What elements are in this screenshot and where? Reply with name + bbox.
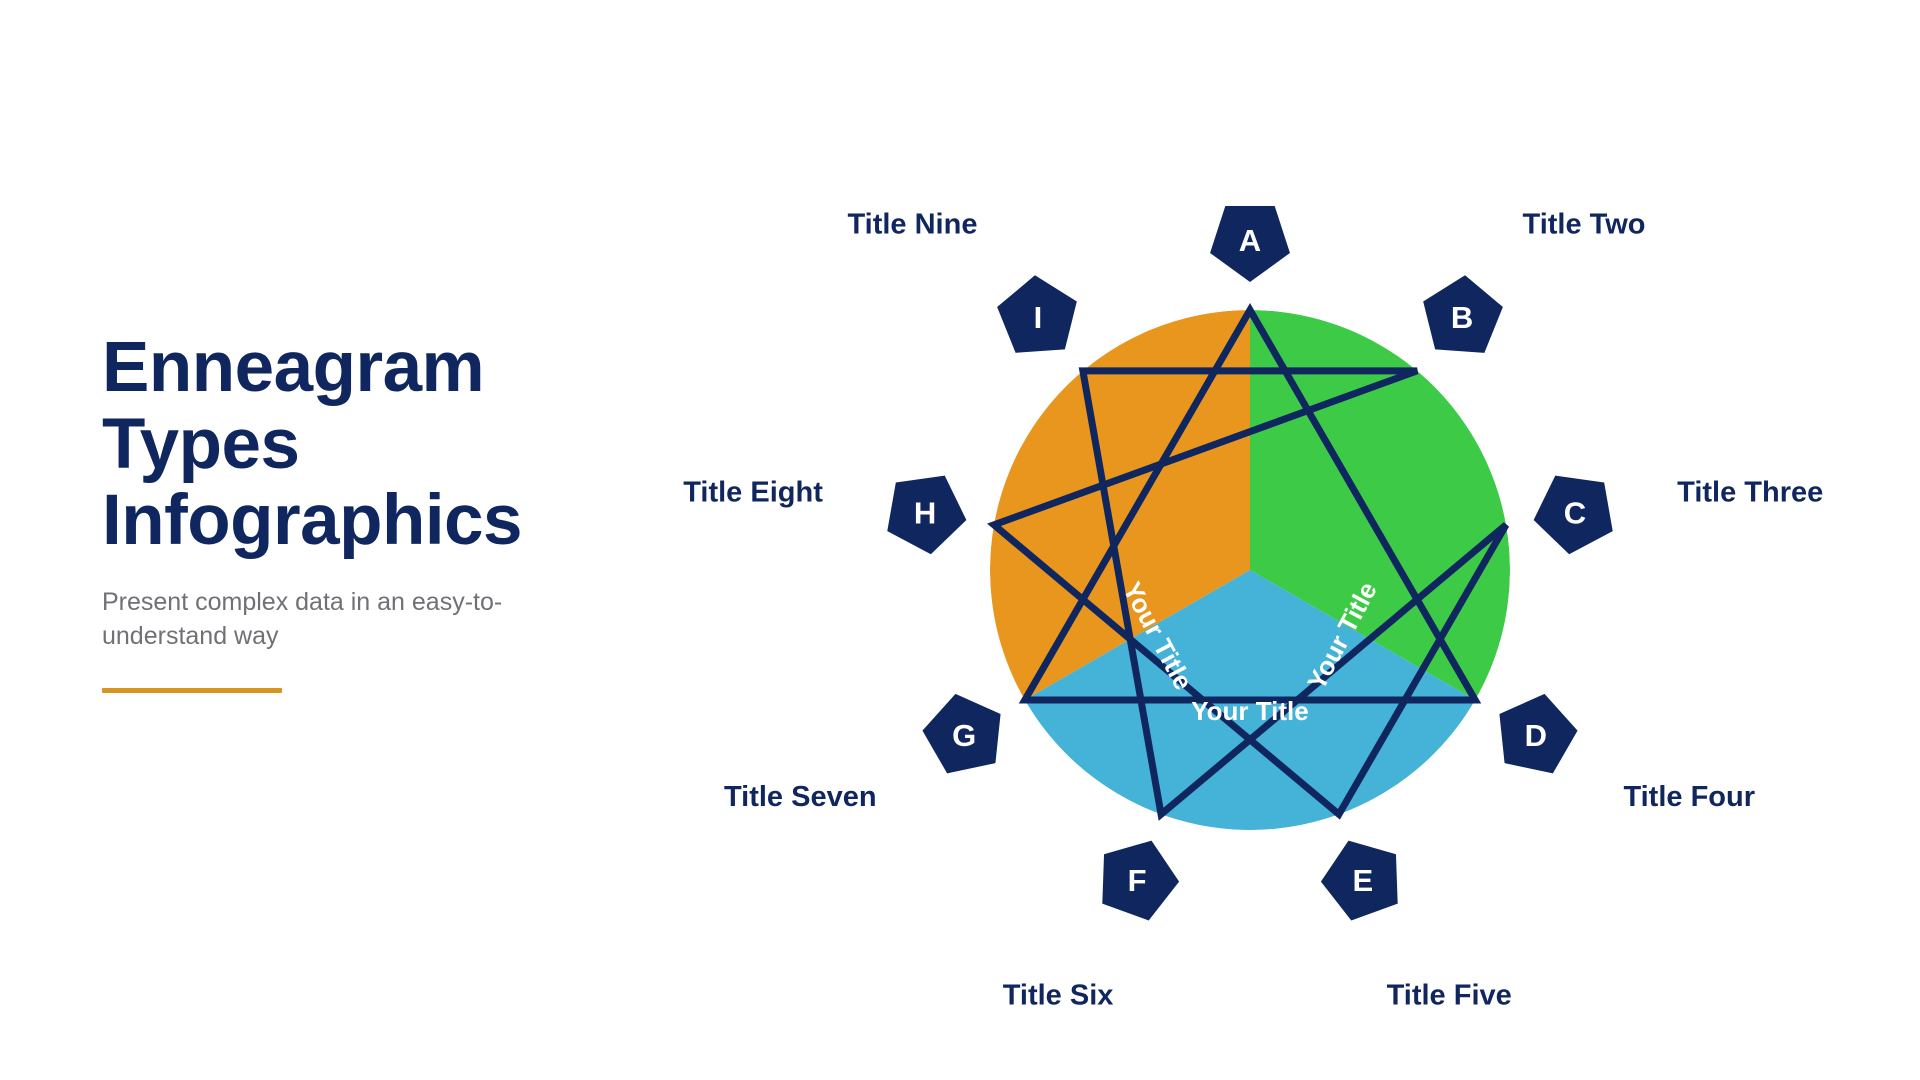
badge-letter: E (1353, 863, 1374, 898)
badge-letter: D (1525, 718, 1547, 753)
slide-canvas: Enneagram Types Infographics Present com… (0, 0, 1920, 1080)
point-label-h[interactable]: Title Eight (683, 477, 823, 509)
badge-letter: I (1034, 300, 1043, 335)
point-badge-d[interactable]: D (1499, 694, 1577, 773)
badge-letter: G (952, 718, 976, 753)
page-title: Enneagram Types Infographics (102, 330, 662, 560)
point-label-g[interactable]: Title Seven (724, 781, 877, 813)
point-badge-e[interactable]: E (1321, 841, 1398, 921)
title-block: Enneagram Types Infographics Present com… (102, 330, 662, 693)
badge-letter: H (914, 496, 936, 531)
badge-letter: A (1239, 223, 1261, 258)
point-label-a[interactable]: Title One (1188, 120, 1312, 121)
point-label-b[interactable]: Title Two (1523, 209, 1646, 241)
point-badge-g[interactable]: G (922, 694, 1000, 773)
point-label-e[interactable]: Title Five (1387, 980, 1512, 1012)
point-label-d[interactable]: Title Four (1623, 781, 1755, 813)
page-subtitle: Present complex data in an easy-to-under… (102, 586, 602, 654)
enneagram-svg: Your Title Your Title Your Title ABCDEFG… (660, 120, 1840, 1020)
badge-letter: B (1451, 300, 1473, 335)
point-badge-b[interactable]: B (1423, 275, 1503, 353)
point-badge-c[interactable]: C (1534, 476, 1613, 555)
point-badge-a[interactable]: A (1210, 206, 1290, 282)
badge-letter: C (1564, 496, 1586, 531)
point-label-i[interactable]: Title Nine (847, 209, 977, 241)
accent-rule (102, 688, 282, 693)
point-label-c[interactable]: Title Three (1677, 477, 1823, 509)
badge-letter: F (1128, 863, 1147, 898)
sector-group (990, 310, 1510, 830)
point-label-f[interactable]: Title Six (1003, 980, 1114, 1012)
point-badge-f[interactable]: F (1102, 841, 1179, 921)
enneagram-diagram: Your Title Your Title Your Title ABCDEFG… (660, 120, 1840, 1020)
point-badge-i[interactable]: I (997, 275, 1077, 353)
sector-label-blue: Your Title (1191, 696, 1309, 726)
point-badge-h[interactable]: H (887, 476, 966, 555)
